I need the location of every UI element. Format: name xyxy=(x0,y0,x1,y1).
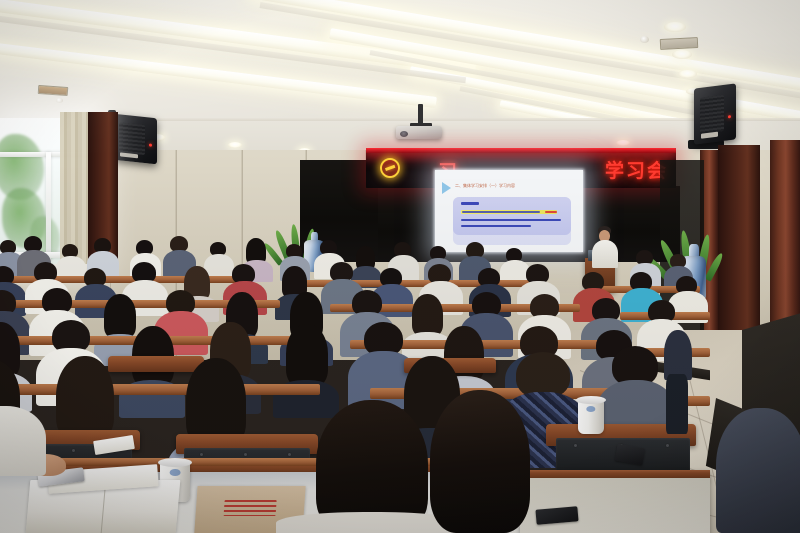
window-mullion xyxy=(46,152,51,264)
right-desk-front xyxy=(520,478,710,533)
speaker-right xyxy=(694,83,736,144)
torso xyxy=(0,406,46,476)
hair xyxy=(430,390,530,533)
conference-hall-photo: 习 学习会 二、集体学习安排（一）学习内容 xyxy=(0,0,800,533)
chair-stud xyxy=(288,453,291,456)
slide-text-line xyxy=(462,211,540,213)
hair xyxy=(104,294,136,338)
speaker-grill xyxy=(700,95,724,134)
hair xyxy=(56,356,114,440)
chair-stud xyxy=(244,453,247,456)
banner-emblem-icon xyxy=(380,158,400,178)
slide-accent-line xyxy=(545,211,557,213)
slide-text-line xyxy=(461,225,531,227)
speaker-left xyxy=(113,114,157,165)
speaker-label-plate xyxy=(701,132,718,139)
chair-stud xyxy=(200,453,203,456)
slide-text-line xyxy=(461,219,561,221)
chair-stud xyxy=(574,444,577,447)
paper-cup-rim xyxy=(158,458,192,467)
hair xyxy=(286,324,328,386)
downlight xyxy=(672,50,692,59)
smoke-detector xyxy=(640,36,649,43)
paper-cup xyxy=(578,400,604,434)
torso xyxy=(716,408,800,533)
legs xyxy=(666,374,688,434)
projector-mount-pole xyxy=(418,104,423,125)
presenter-torso xyxy=(592,240,618,268)
speaker-power-led xyxy=(149,143,152,146)
speaker-label-plate xyxy=(120,152,138,158)
banner-text: 学习会 xyxy=(605,156,668,183)
projection-screen: 二、集体学习安排（一）学习内容 xyxy=(435,170,583,252)
red-book-title-mark xyxy=(224,500,277,516)
speaker-power-led xyxy=(728,115,731,118)
hair xyxy=(186,358,246,446)
downlight xyxy=(616,140,630,146)
slide-text-line xyxy=(461,202,479,205)
air-vent xyxy=(660,37,699,50)
smoke-detector xyxy=(56,98,63,103)
torso xyxy=(664,330,692,380)
projector-lens xyxy=(400,131,408,137)
slide-bullet-icon xyxy=(442,182,451,194)
slide-header-text: 二、集体学习安排（一）学习内容 xyxy=(455,183,515,189)
chair-stud xyxy=(72,449,75,452)
downlight xyxy=(678,70,697,78)
desk xyxy=(0,384,320,395)
downlight xyxy=(664,22,686,32)
chair-back xyxy=(108,356,204,372)
presenter xyxy=(592,226,618,270)
paper-cup-rim xyxy=(576,396,606,404)
hair xyxy=(412,294,443,336)
air-vent xyxy=(38,85,69,96)
downlight xyxy=(228,142,242,148)
speaker-grill xyxy=(119,123,145,155)
chair-stud xyxy=(666,444,669,447)
